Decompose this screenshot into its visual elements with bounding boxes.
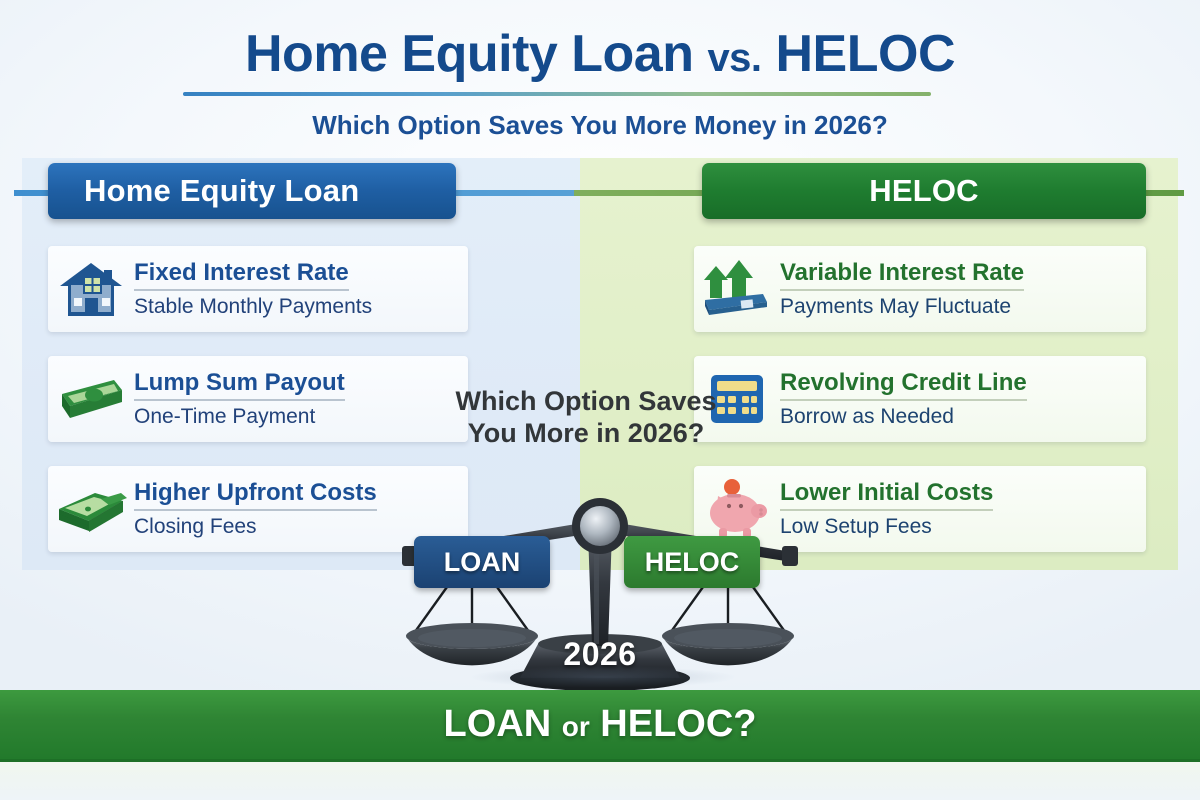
feature-card-subtext: Borrow as Needed: [780, 405, 1136, 428]
footer-label-a: LOAN: [444, 703, 552, 745]
infographic-canvas: Home Equity Loan vs. HELOC Which Option …: [0, 0, 1200, 800]
page-title-vs: vs.: [707, 36, 761, 80]
feature-card-subtext: Stable Monthly Payments: [134, 295, 458, 318]
footer-label-or: or: [562, 711, 590, 742]
footer-label-b: HELOC?: [600, 703, 756, 745]
page-title: Home Equity Loan vs. HELOC: [0, 24, 1200, 84]
feature-card-heading: Fixed Interest Rate: [134, 260, 349, 290]
page-title-tail: HELOC: [776, 25, 956, 83]
title-divider: [183, 92, 931, 96]
feature-card-fixed-interest-rate[interactable]: Fixed Interest Rate Stable Monthly Payme…: [48, 246, 468, 332]
scale-base-year: 2026: [372, 636, 828, 673]
center-question-line-1: Which Option Saves: [400, 386, 772, 418]
feature-card-heading: Lump Sum Payout: [134, 370, 345, 400]
footer-strip: [0, 762, 1200, 800]
footer-banner: LOAN or HELOC?: [0, 690, 1200, 762]
up-arrows-icon: [694, 258, 780, 320]
feature-card-text: Fixed Interest Rate Stable Monthly Payme…: [134, 260, 468, 318]
cash-bills-icon: [48, 372, 134, 426]
page-subtitle: Which Option Saves You More Money in 202…: [0, 110, 1200, 141]
page-title-main: Home Equity Loan: [245, 25, 693, 83]
feature-card-text: Revolving Credit Line Borrow as Needed: [780, 370, 1146, 428]
feature-card-text: Variable Interest Rate Payments May Fluc…: [780, 260, 1146, 318]
scale-left-plate-label: LOAN: [414, 536, 550, 588]
right-column-banner-label: HELOC: [869, 173, 979, 209]
feature-card-variable-interest-rate[interactable]: Variable Interest Rate Payments May Fluc…: [694, 246, 1146, 332]
footer-banner-text: LOAN or HELOC?: [444, 703, 757, 746]
left-column-banner-label: Home Equity Loan: [84, 173, 359, 209]
feature-card-subtext: Low Setup Fees: [780, 515, 1136, 538]
feature-card-heading: Variable Interest Rate: [780, 260, 1024, 290]
house-icon: [48, 260, 134, 318]
feature-card-subtext: Payments May Fluctuate: [780, 295, 1136, 318]
feature-card-heading: Revolving Credit Line: [780, 370, 1027, 400]
feature-card-text: Lower Initial Costs Low Setup Fees: [780, 480, 1146, 538]
feature-card-heading: Higher Upfront Costs: [134, 480, 377, 510]
balance-scale-graphic: LOAN HELOC 2026: [372, 440, 828, 690]
right-column-banner: HELOC: [702, 163, 1146, 219]
cash-stack-icon: [48, 481, 134, 537]
left-column-banner: Home Equity Loan: [48, 163, 456, 219]
scale-right-plate-label: HELOC: [624, 536, 760, 588]
